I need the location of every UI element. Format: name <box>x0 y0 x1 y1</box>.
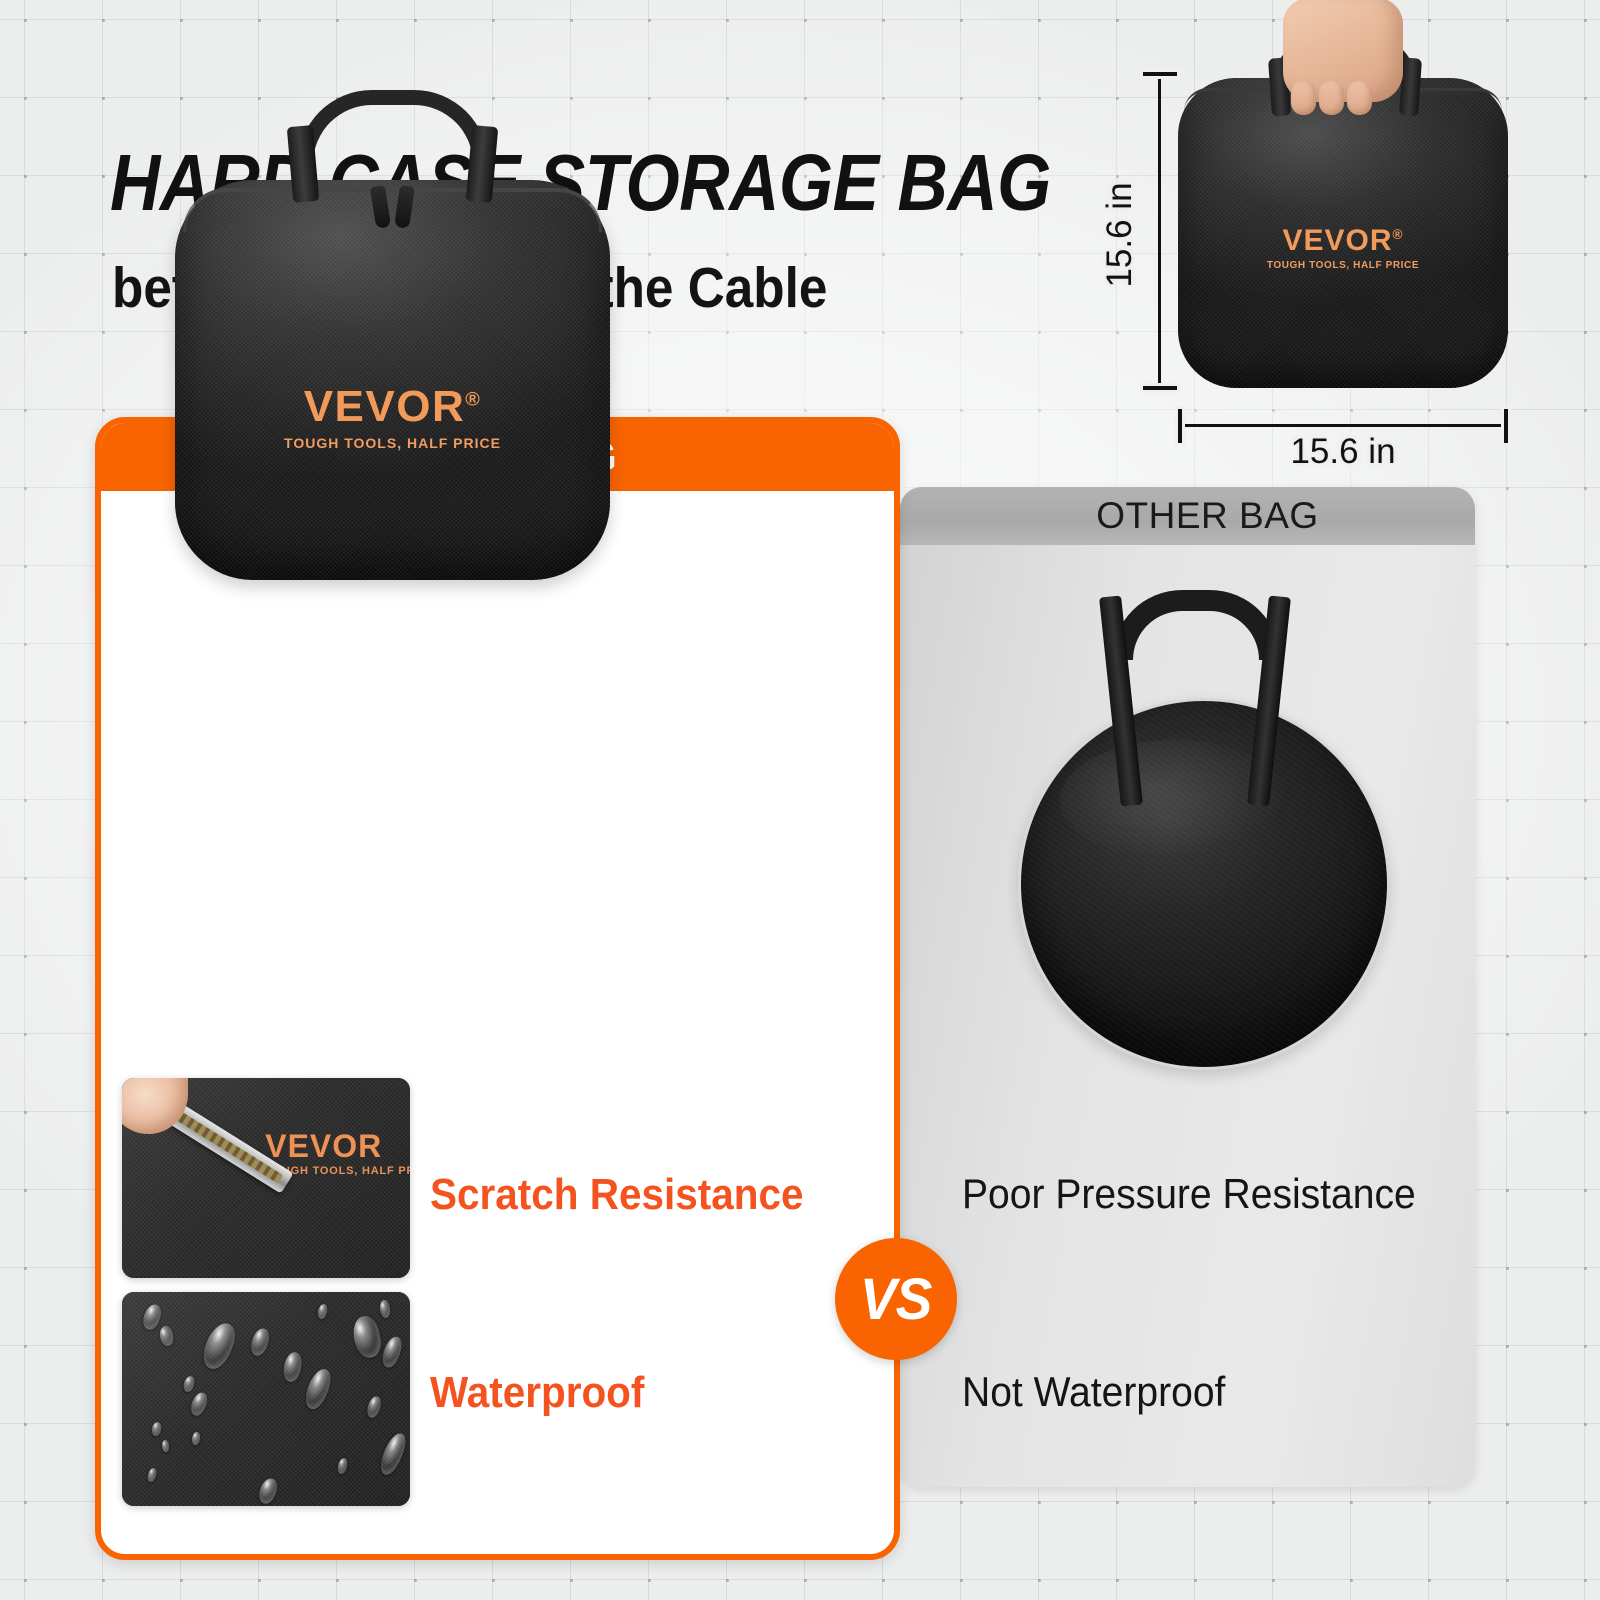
vevor-logo-tagline: TOUGH TOOLS, HALF PRICE <box>175 435 610 451</box>
registered-mark-icon: ® <box>1393 227 1404 242</box>
vevor-handle-grip <box>298 90 488 164</box>
dimension-cap-bottom <box>1143 386 1177 390</box>
dimension-label-width: 15.6 in <box>1178 432 1508 472</box>
waterproof-test-thumbnail <box>122 1292 410 1506</box>
hero-logo-tagline: TOUGH TOOLS, HALF PRICE <box>1178 260 1508 271</box>
hero-brand-logo: VEVOR® TOUGH TOOLS, HALF PRICE <box>1178 226 1508 271</box>
feature-label-poor-pressure-resistance: Poor Pressure Resistance <box>962 1170 1416 1218</box>
dimension-line-horizontal <box>1178 424 1508 427</box>
vs-badge-label: VS <box>860 1266 932 1333</box>
registered-mark-icon: ® <box>465 388 481 410</box>
vevor-bag-photo: VEVOR® TOUGH TOOLS, HALF PRICE <box>175 90 610 580</box>
hero-logo-text: VEVOR <box>1283 224 1393 257</box>
other-bag-header: OTHER BAG <box>900 487 1475 545</box>
vevor-strap-right <box>466 125 499 203</box>
vs-badge: VS <box>835 1238 957 1360</box>
feature-label-waterproof: Waterproof <box>430 1368 644 1418</box>
hand-holding-bag <box>1283 0 1403 102</box>
feature-label-not-waterproof: Not Waterproof <box>962 1368 1225 1416</box>
feature-label-scratch-resistance: Scratch Resistance <box>430 1170 804 1220</box>
hero-product-photo: VEVOR® TOUGH TOOLS, HALF PRICE <box>1178 58 1508 388</box>
other-bag-title: OTHER BAG <box>1056 495 1318 537</box>
product-infographic: HARD CASE STORAGE BAG better protection … <box>0 0 1600 1600</box>
vevor-case-body <box>175 180 610 580</box>
other-bag-photo <box>1000 590 1400 1070</box>
scratch-test-thumbnail: VEVOR TOUGH TOOLS, HALF PRICE <box>122 1078 410 1278</box>
thumbnail-logo-text: VEVOR <box>265 1130 410 1162</box>
vevor-logo-text: VEVOR <box>304 382 466 431</box>
other-bag-handle-arc <box>1112 590 1280 660</box>
dimension-label-height: 15.6 in <box>1100 175 1140 295</box>
dimension-line-vertical <box>1158 72 1161 390</box>
vevor-handle <box>290 90 495 200</box>
dimension-cap-top <box>1143 72 1177 76</box>
vevor-brand-logo: VEVOR® TOUGH TOOLS, HALF PRICE <box>175 385 610 451</box>
